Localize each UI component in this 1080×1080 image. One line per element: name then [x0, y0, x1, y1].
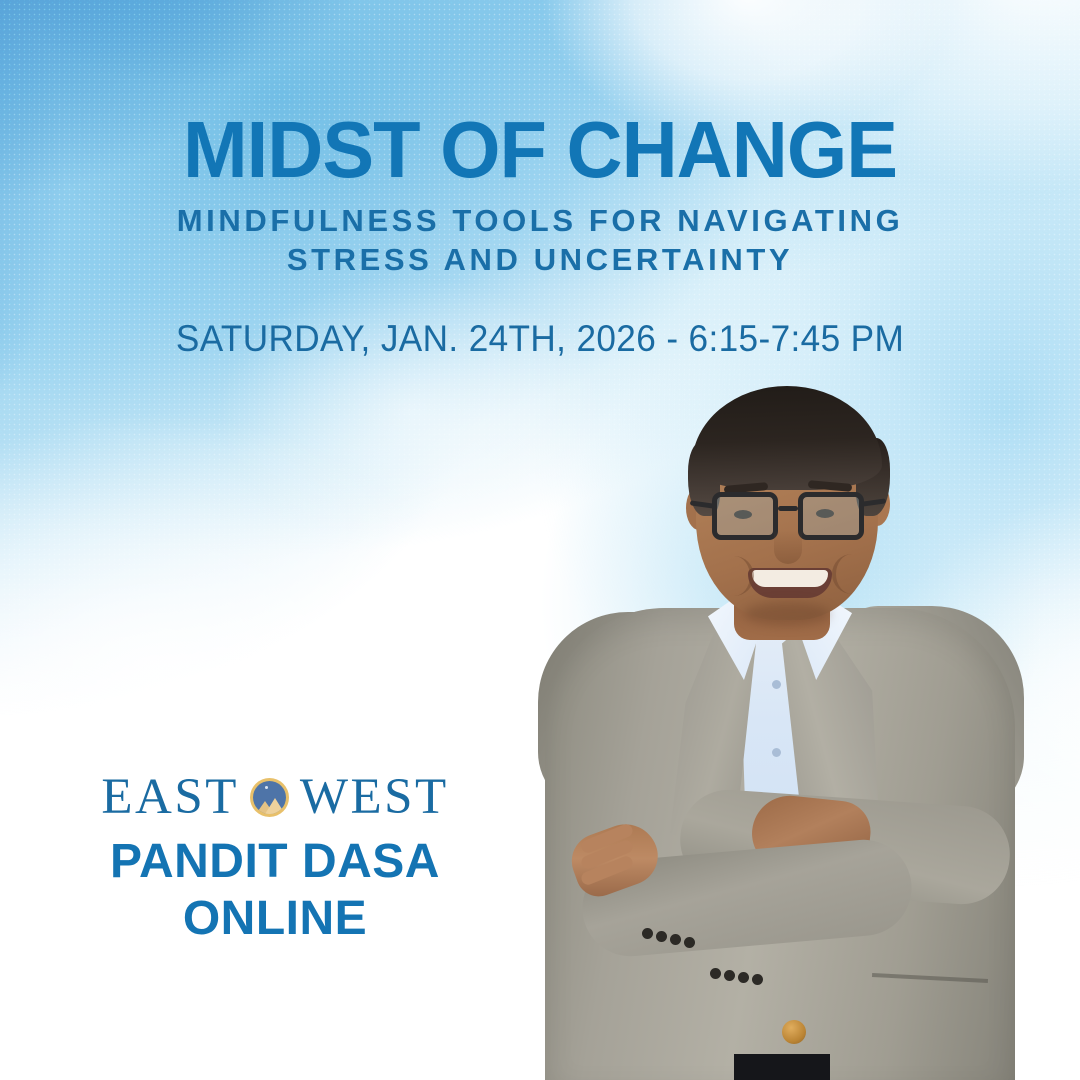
sleeve-button [684, 937, 695, 948]
nose [774, 530, 802, 564]
brand-block: EAST WEST PANDIT DASA ONLINE [40, 772, 510, 945]
teeth [752, 570, 828, 587]
sleeve-button [670, 934, 681, 945]
event-title: MIDST OF CHANGE [16, 112, 1064, 189]
event-datetime: SATURDAY, JAN. 24TH, 2026 - 6:15-7:45 PM [27, 318, 1053, 360]
jacket-button [782, 1020, 806, 1044]
event-subtitle-line-2: STRESS AND UNCERTAINTY [0, 240, 1080, 280]
glasses-lens-left [712, 492, 778, 540]
medallion-sun [265, 786, 268, 789]
mountain-medallion-icon [250, 778, 289, 817]
belt [734, 1054, 830, 1080]
sleeve-button [656, 931, 667, 942]
shirt-button [772, 680, 781, 689]
speaker-photo [520, 380, 1040, 1080]
sleeve-button [738, 972, 749, 983]
glasses-bridge [778, 506, 798, 511]
mountain-peak-right [265, 798, 285, 814]
logo-word-east: EAST [101, 772, 239, 823]
event-poster: MIDST OF CHANGE MINDFULNESS TOOLS FOR NA… [0, 0, 1080, 1080]
hair [692, 386, 882, 490]
sleeve-button [752, 974, 763, 985]
chin-shadow [744, 602, 830, 626]
medallion-disc [253, 781, 286, 814]
shirt-button [772, 748, 781, 757]
east-west-logo: EAST WEST [40, 772, 510, 823]
speaker-name: PANDIT DASA [40, 837, 510, 888]
sleeve-button [710, 968, 721, 979]
event-format: ONLINE [40, 894, 510, 945]
sleeve-button [724, 970, 735, 981]
event-subtitle-line-1: MINDFULNESS TOOLS FOR NAVIGATING [0, 201, 1080, 241]
headline-block: MIDST OF CHANGE MINDFULNESS TOOLS FOR NA… [0, 112, 1080, 360]
logo-word-west: WEST [300, 772, 449, 823]
glasses-lens-right [798, 492, 864, 540]
sleeve-button [642, 928, 653, 939]
